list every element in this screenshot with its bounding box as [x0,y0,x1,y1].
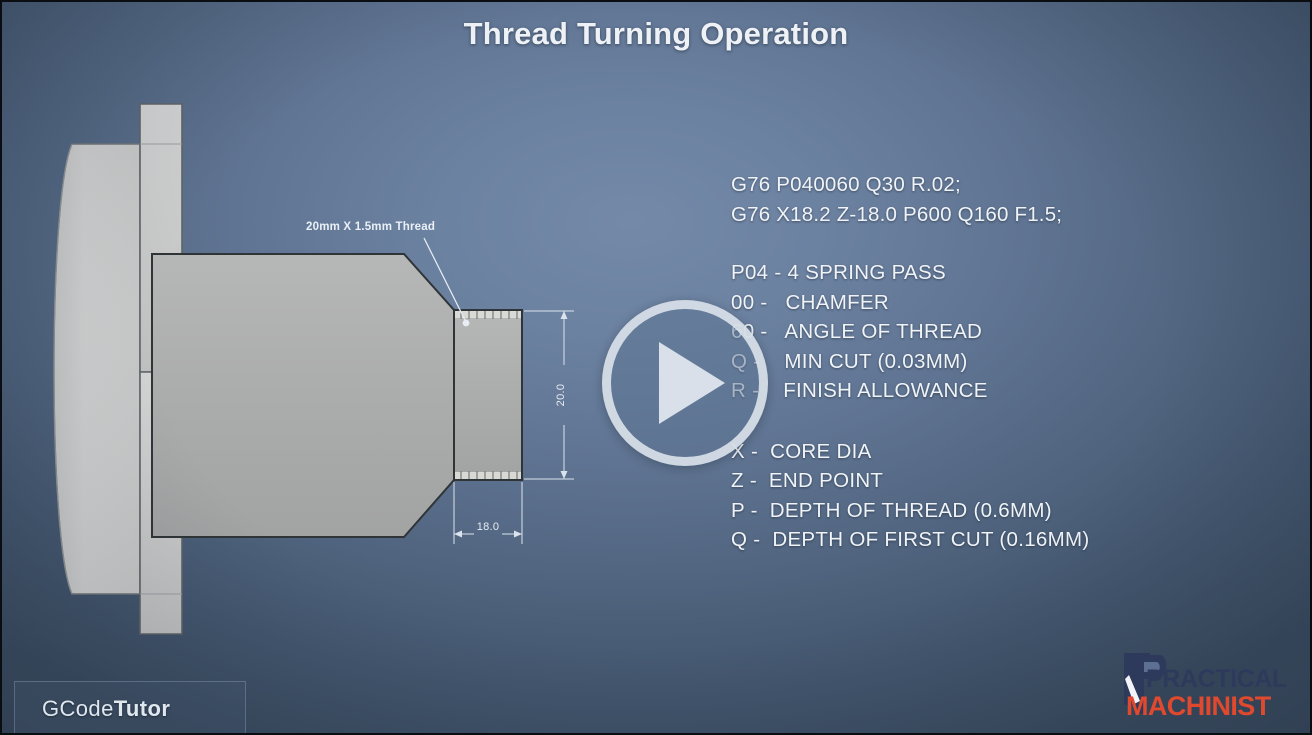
play-button[interactable] [602,300,768,466]
threaded-section [454,310,522,480]
gcode-line: G76 X18.2 Z-18.0 P600 Q160 F1.5; [731,200,1271,230]
dimension-vertical-label: 20.0 [555,384,567,407]
slide-title: Thread Turning Operation [2,16,1310,52]
gcode-block: G76 P040060 Q30 R.02; G76 X18.2 Z-18.0 P… [731,170,1271,230]
dimension-horizontal-18 [454,482,522,544]
technical-drawing: 20mm X 1.5mm Thread 20.0 [42,82,602,652]
thread-leader-label: 20mm X 1.5mm Thread [306,221,435,233]
legend-line: Q - DEPTH OF FIRST CUT (0.16MM) [731,525,1271,555]
legend-line: R - FINISH ALLOWANCE [731,376,1271,406]
workpiece-body [152,254,454,537]
legend-line: X - CORE DIA [731,437,1271,467]
legend-secondary-block: X - CORE DIA Z - END POINT P - DEPTH OF … [731,437,1271,555]
leader-arrowhead [463,320,470,327]
pm-logo-line2: MACHINIST [1126,691,1272,721]
gcodetutor-watermark-text: GCodeTutor [42,696,170,722]
gcode-line: G76 P040060 Q30 R.02; [731,170,1271,200]
pm-logo-line1: PRACTICAL [1146,665,1287,693]
chuck-front-disc [54,144,140,594]
play-triangle-icon [659,342,725,424]
gcodetutor-watermark: GCodeTutor [14,681,246,735]
legend-line: 00 - CHAMFER [731,288,1271,318]
practical-machinist-logo: PRACTICAL MACHINIST [1120,649,1296,727]
legend-line: Z - END POINT [731,466,1271,496]
legend-line: P - DEPTH OF THREAD (0.6MM) [731,496,1271,526]
dimension-horizontal-label: 18.0 [477,521,500,533]
watermark-text-light: GCode [42,696,114,721]
watermark-text-bold: Tutor [114,696,171,721]
legend-line: Q - MIN CUT (0.03MM) [731,347,1271,377]
video-player-frame[interactable]: Thread Turning Operation [0,0,1312,735]
gcode-text-column: G76 P040060 Q30 R.02; G76 X18.2 Z-18.0 P… [731,170,1271,555]
legend-line: P04 - 4 SPRING PASS [731,258,1271,288]
legend-line: 60 - ANGLE OF THREAD [731,317,1271,347]
legend-primary-block: P04 - 4 SPRING PASS 00 - CHAMFER 60 - AN… [731,258,1271,406]
